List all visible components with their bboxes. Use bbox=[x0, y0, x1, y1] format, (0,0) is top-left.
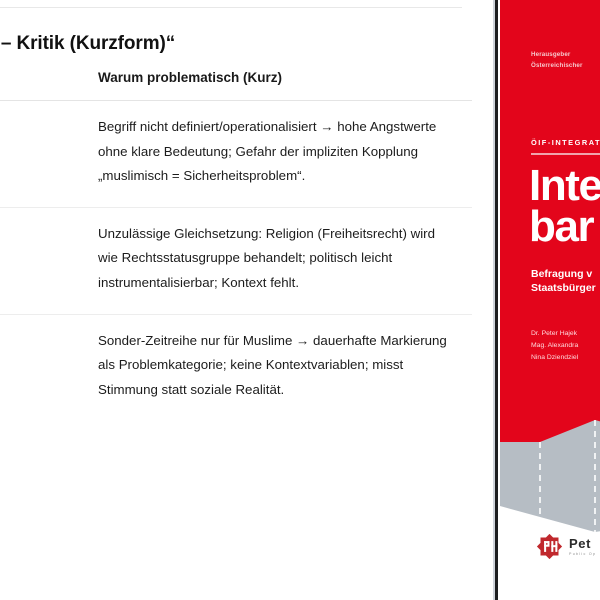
ph-logo-mark bbox=[536, 533, 563, 560]
pane-divider bbox=[495, 0, 498, 600]
cover-subtitle: Befragung v Staatsbürger bbox=[531, 267, 600, 295]
cover-subtitle-line-1: Befragung v bbox=[531, 267, 600, 281]
ph-logo-icon bbox=[536, 533, 563, 560]
page-title: genstand – Kritik (Kurzform)“ bbox=[0, 33, 332, 55]
cover-title: Inte bar bbox=[529, 165, 600, 248]
author-1: Dr. Peter Hajek bbox=[531, 328, 600, 340]
cover-subtitle-line-2: Staatsbürger bbox=[531, 281, 600, 295]
cell-critique: Sonder-Zeitreihe nur für Muslime → dauer… bbox=[98, 314, 472, 420]
publisher-logo: Pet Public Op bbox=[536, 533, 596, 560]
cover-eyebrow: ÖIF-INTEGRATIONSFONDS bbox=[531, 138, 600, 147]
cover-eyebrow-rule bbox=[531, 153, 600, 155]
cell-topic: eben“: e/Nicht- bbox=[0, 207, 98, 314]
table-header-row: Warum problematisch (Kurz) bbox=[0, 64, 472, 101]
cover-title-line-1: Inte bbox=[529, 165, 600, 206]
publisher-block: Herausgeber Österreichischer bbox=[531, 50, 600, 72]
cover-content: Herausgeber Österreichischer ÖIF-INTEGRA… bbox=[500, 0, 600, 470]
table-row: chen Begriff nicht definiert/operational… bbox=[0, 101, 472, 208]
cover-authors: Dr. Peter Hajek Mag. Alexandra Nina Dzie… bbox=[531, 328, 600, 364]
slide-root: genstand – Kritik (Kurzform)“ Warum prob… bbox=[0, 0, 600, 600]
document-pane: genstand – Kritik (Kurzform)“ Warum prob… bbox=[0, 0, 490, 600]
cover-panel: Herausgeber Österreichischer ÖIF-INTEGRA… bbox=[500, 0, 600, 600]
author-2: Mag. Alexandra bbox=[531, 340, 600, 352]
critique-table: Warum problematisch (Kurz) chen Begriff … bbox=[0, 64, 472, 420]
author-3: Nina Dziendziel bbox=[531, 352, 600, 364]
table-row: en mit Sonder-Zeitreihe nur für Muslime … bbox=[0, 314, 472, 420]
publisher-line-1: Herausgeber bbox=[531, 50, 600, 61]
cell-topic: chen bbox=[0, 101, 98, 208]
top-divider bbox=[0, 7, 462, 8]
ph-logo-text: Pet Public Op bbox=[569, 537, 596, 557]
ph-logo-name: Pet bbox=[569, 537, 596, 550]
cell-topic: en mit bbox=[0, 314, 98, 420]
cover-title-line-2: bar bbox=[529, 206, 600, 247]
column-header-critique: Warum problematisch (Kurz) bbox=[98, 64, 472, 101]
table-row: eben“: e/Nicht- Unzulässige Gleichsetzun… bbox=[0, 207, 472, 314]
folded-box-body bbox=[500, 420, 600, 532]
cell-critique: Begriff nicht definiert/operationalisier… bbox=[98, 101, 472, 208]
publisher-line-2: Österreichischer bbox=[531, 61, 600, 72]
ph-logo-tagline: Public Op bbox=[569, 552, 596, 556]
folded-box-graphic bbox=[500, 420, 600, 550]
cell-critique: Unzulässige Gleichsetzung: Religion (Fre… bbox=[98, 207, 472, 314]
column-header-topic bbox=[0, 64, 98, 101]
